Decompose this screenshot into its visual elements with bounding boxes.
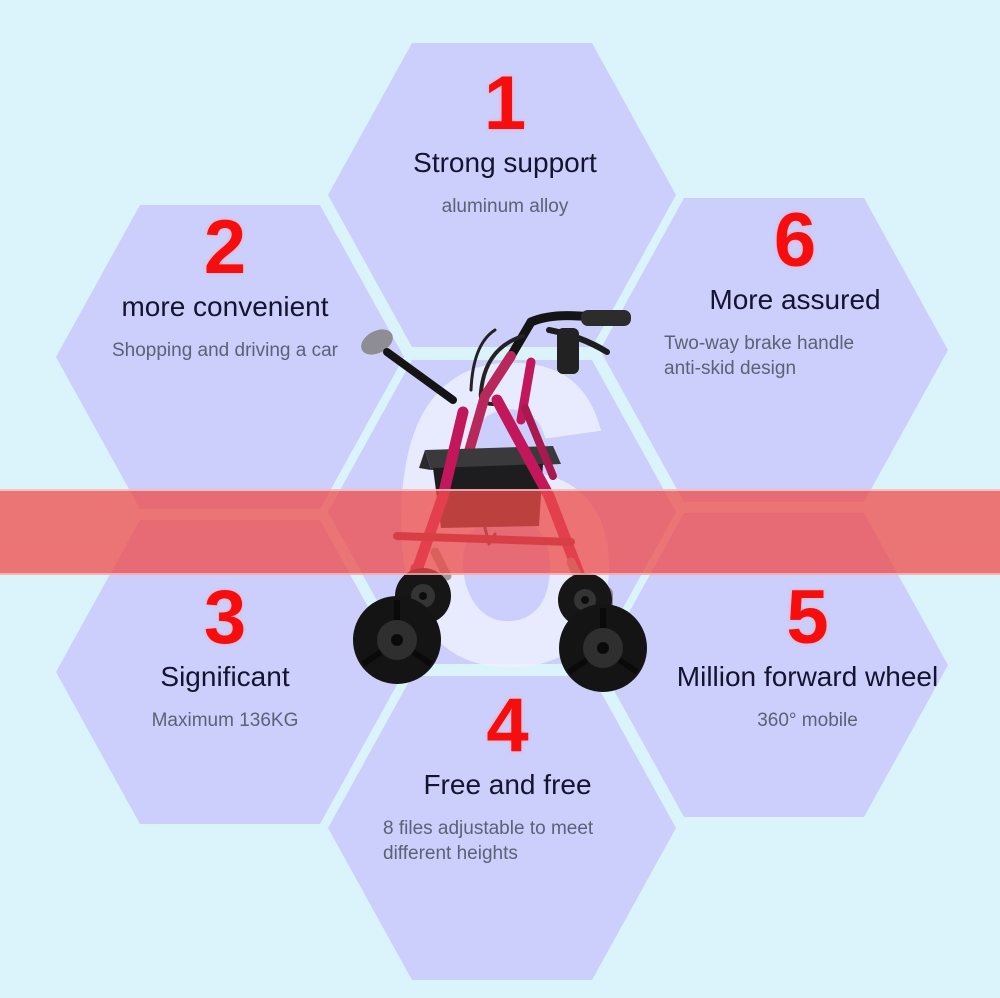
hexagon-cell-4 xyxy=(328,676,676,980)
product-image-rollator-walker xyxy=(335,300,670,700)
feature-infographic-poster: 6 xyxy=(0,0,1000,998)
wheel-group xyxy=(353,568,647,692)
rollator-walker-illustration xyxy=(335,300,670,700)
